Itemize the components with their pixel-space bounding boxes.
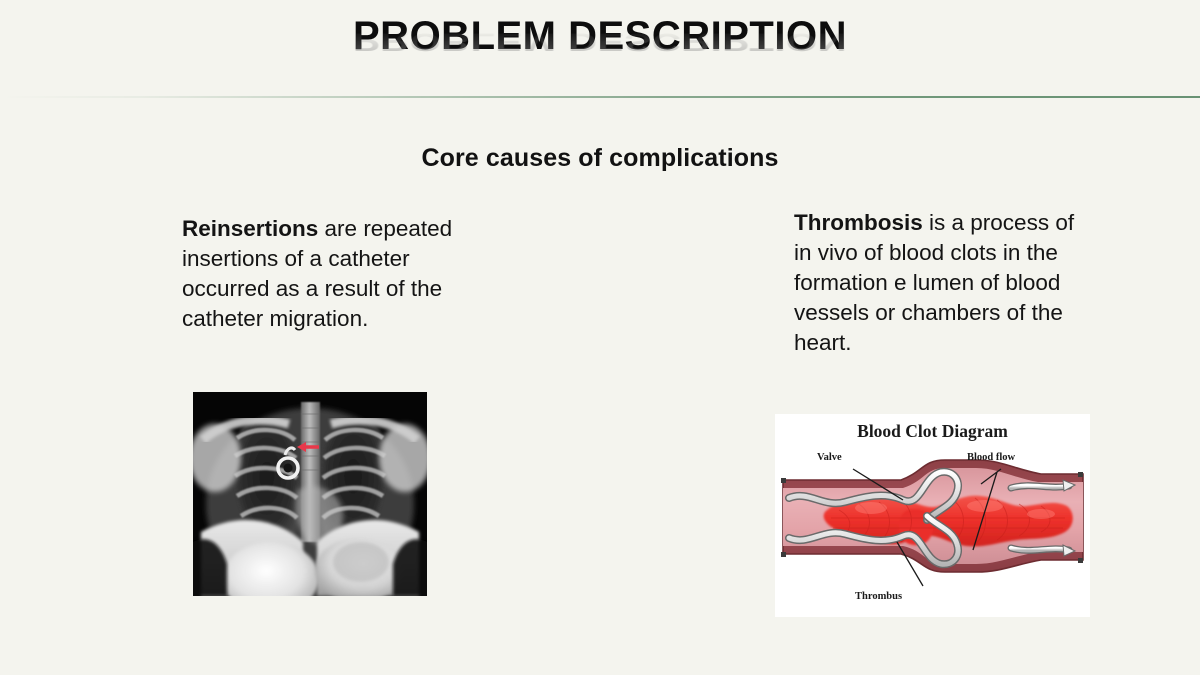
title-divider	[0, 96, 1200, 98]
diagram-label-valve: Valve	[817, 452, 842, 463]
slide-title-block: PROBLEM DESCRIPTION PROBLEM DESCRIPTION	[0, 14, 1200, 99]
page-title-reflection: PROBLEM DESCRIPTION	[0, 28, 1200, 55]
thrombosis-lead-term: Thrombosis	[794, 210, 923, 235]
blood-clot-diagram: Blood Clot Diagram	[775, 414, 1090, 617]
page-title: PROBLEM DESCRIPTION	[0, 14, 1200, 58]
slide-canvas: PROBLEM DESCRIPTION PROBLEM DESCRIPTION …	[0, 0, 1200, 675]
thrombosis-text-block: Thrombosis is a process of in vivo of bl…	[794, 208, 1084, 358]
slide-subtitle: Core causes of complications	[0, 144, 1200, 173]
diagram-label-thrombus: Thrombus	[855, 591, 902, 602]
reinsertions-lead-term: Reinsertions	[182, 216, 318, 241]
reinsertions-text-block: Reinsertions are repeated insertions of …	[182, 214, 482, 334]
chest-xray-image	[193, 392, 427, 596]
diagram-label-blood-flow: Blood flow	[967, 452, 1015, 463]
